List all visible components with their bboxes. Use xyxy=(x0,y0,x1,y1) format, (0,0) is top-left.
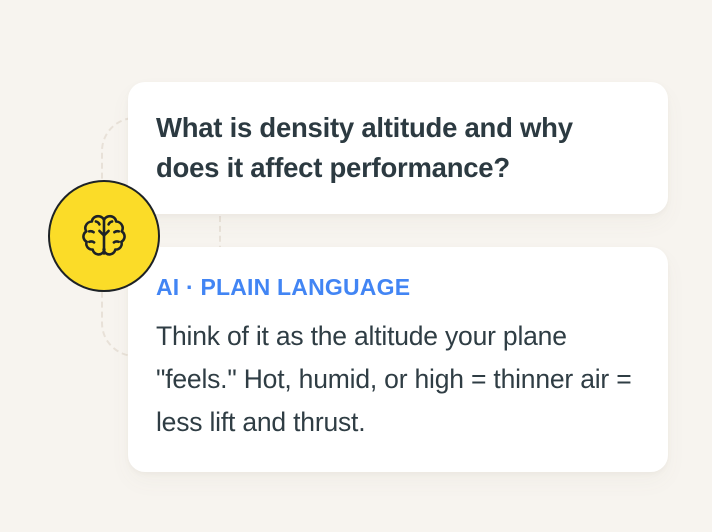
card-stack: What is density altitude and why does it… xyxy=(128,82,668,472)
ai-plain-language-label: AI · PLAIN LANGUAGE xyxy=(156,273,638,301)
answer-card: AI · PLAIN LANGUAGE Think of it as the a… xyxy=(128,247,668,472)
answer-text: Think of it as the altitude your plane "… xyxy=(156,315,638,444)
brain-badge xyxy=(48,180,160,292)
brain-icon xyxy=(77,211,131,261)
question-text: What is density altitude and why does it… xyxy=(156,108,638,188)
question-card: What is density altitude and why does it… xyxy=(128,82,668,214)
explainer-panel: What is density altitude and why does it… xyxy=(0,0,712,532)
